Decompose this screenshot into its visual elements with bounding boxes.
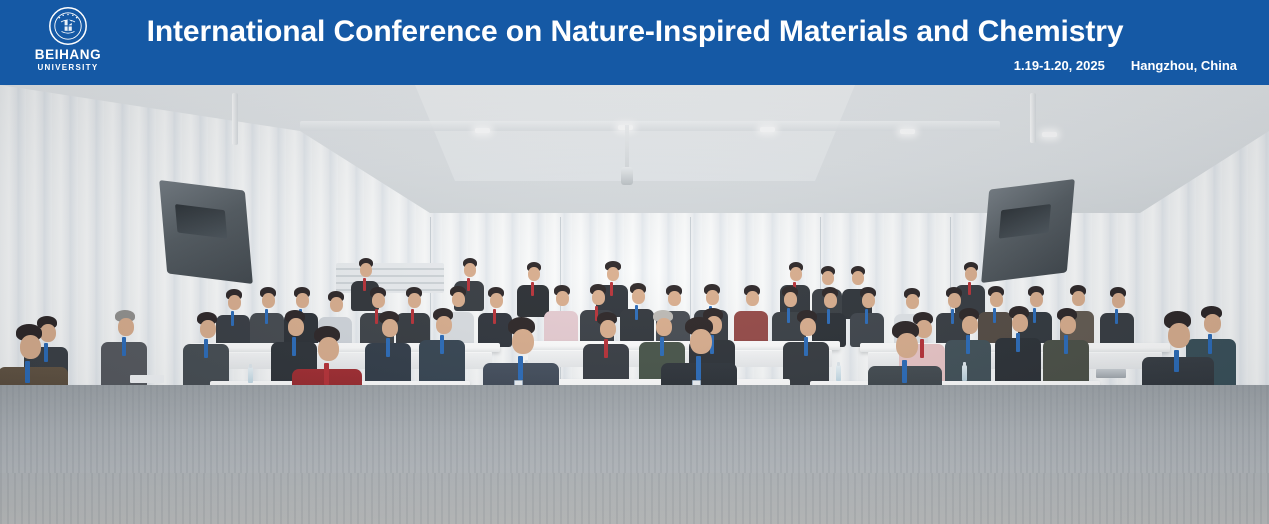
- ceiling-monitor-right: [981, 179, 1075, 283]
- ceiling-light: [760, 127, 775, 132]
- water-bottle: [248, 367, 253, 383]
- laptop: [1096, 369, 1126, 378]
- logo-university-name: BEIHANG: [27, 48, 109, 62]
- monitor-mount-pole-left: [232, 93, 238, 145]
- beihang-university-logo: BEIHANG UNIVERSITY: [27, 6, 109, 80]
- ceiling-light: [900, 129, 915, 134]
- carpet-middle: [0, 473, 1269, 524]
- ceiling-soffit: [300, 121, 1000, 131]
- ceiling-sensor: [625, 125, 629, 169]
- conference-location: Hangzhou, China: [1131, 58, 1237, 73]
- conference-group-photo: [0, 85, 1269, 524]
- water-bottle: [962, 365, 967, 381]
- document: [130, 375, 164, 383]
- conference-date: 1.19-1.20, 2025: [1014, 58, 1105, 73]
- carpet-upper: [0, 385, 1269, 473]
- ceiling-light: [1042, 132, 1057, 137]
- page-banner: BEIHANG UNIVERSITY International Confere…: [0, 0, 1269, 85]
- conference-title: International Conference on Nature-Inspi…: [120, 12, 1150, 52]
- monitor-mount-pole-right: [1030, 93, 1036, 143]
- conference-banner-page: BEIHANG UNIVERSITY International Confere…: [0, 0, 1269, 524]
- ceiling-monitor-left: [159, 180, 253, 284]
- ceiling-recess: [415, 85, 855, 185]
- water-bottle: [836, 365, 841, 381]
- ceiling-light: [475, 128, 490, 133]
- beihang-university-seal-icon: [48, 6, 88, 46]
- conference-meta: 1.19-1.20, 2025Hangzhou, China: [1014, 57, 1237, 74]
- logo-university-subtitle: UNIVERSITY: [27, 62, 109, 73]
